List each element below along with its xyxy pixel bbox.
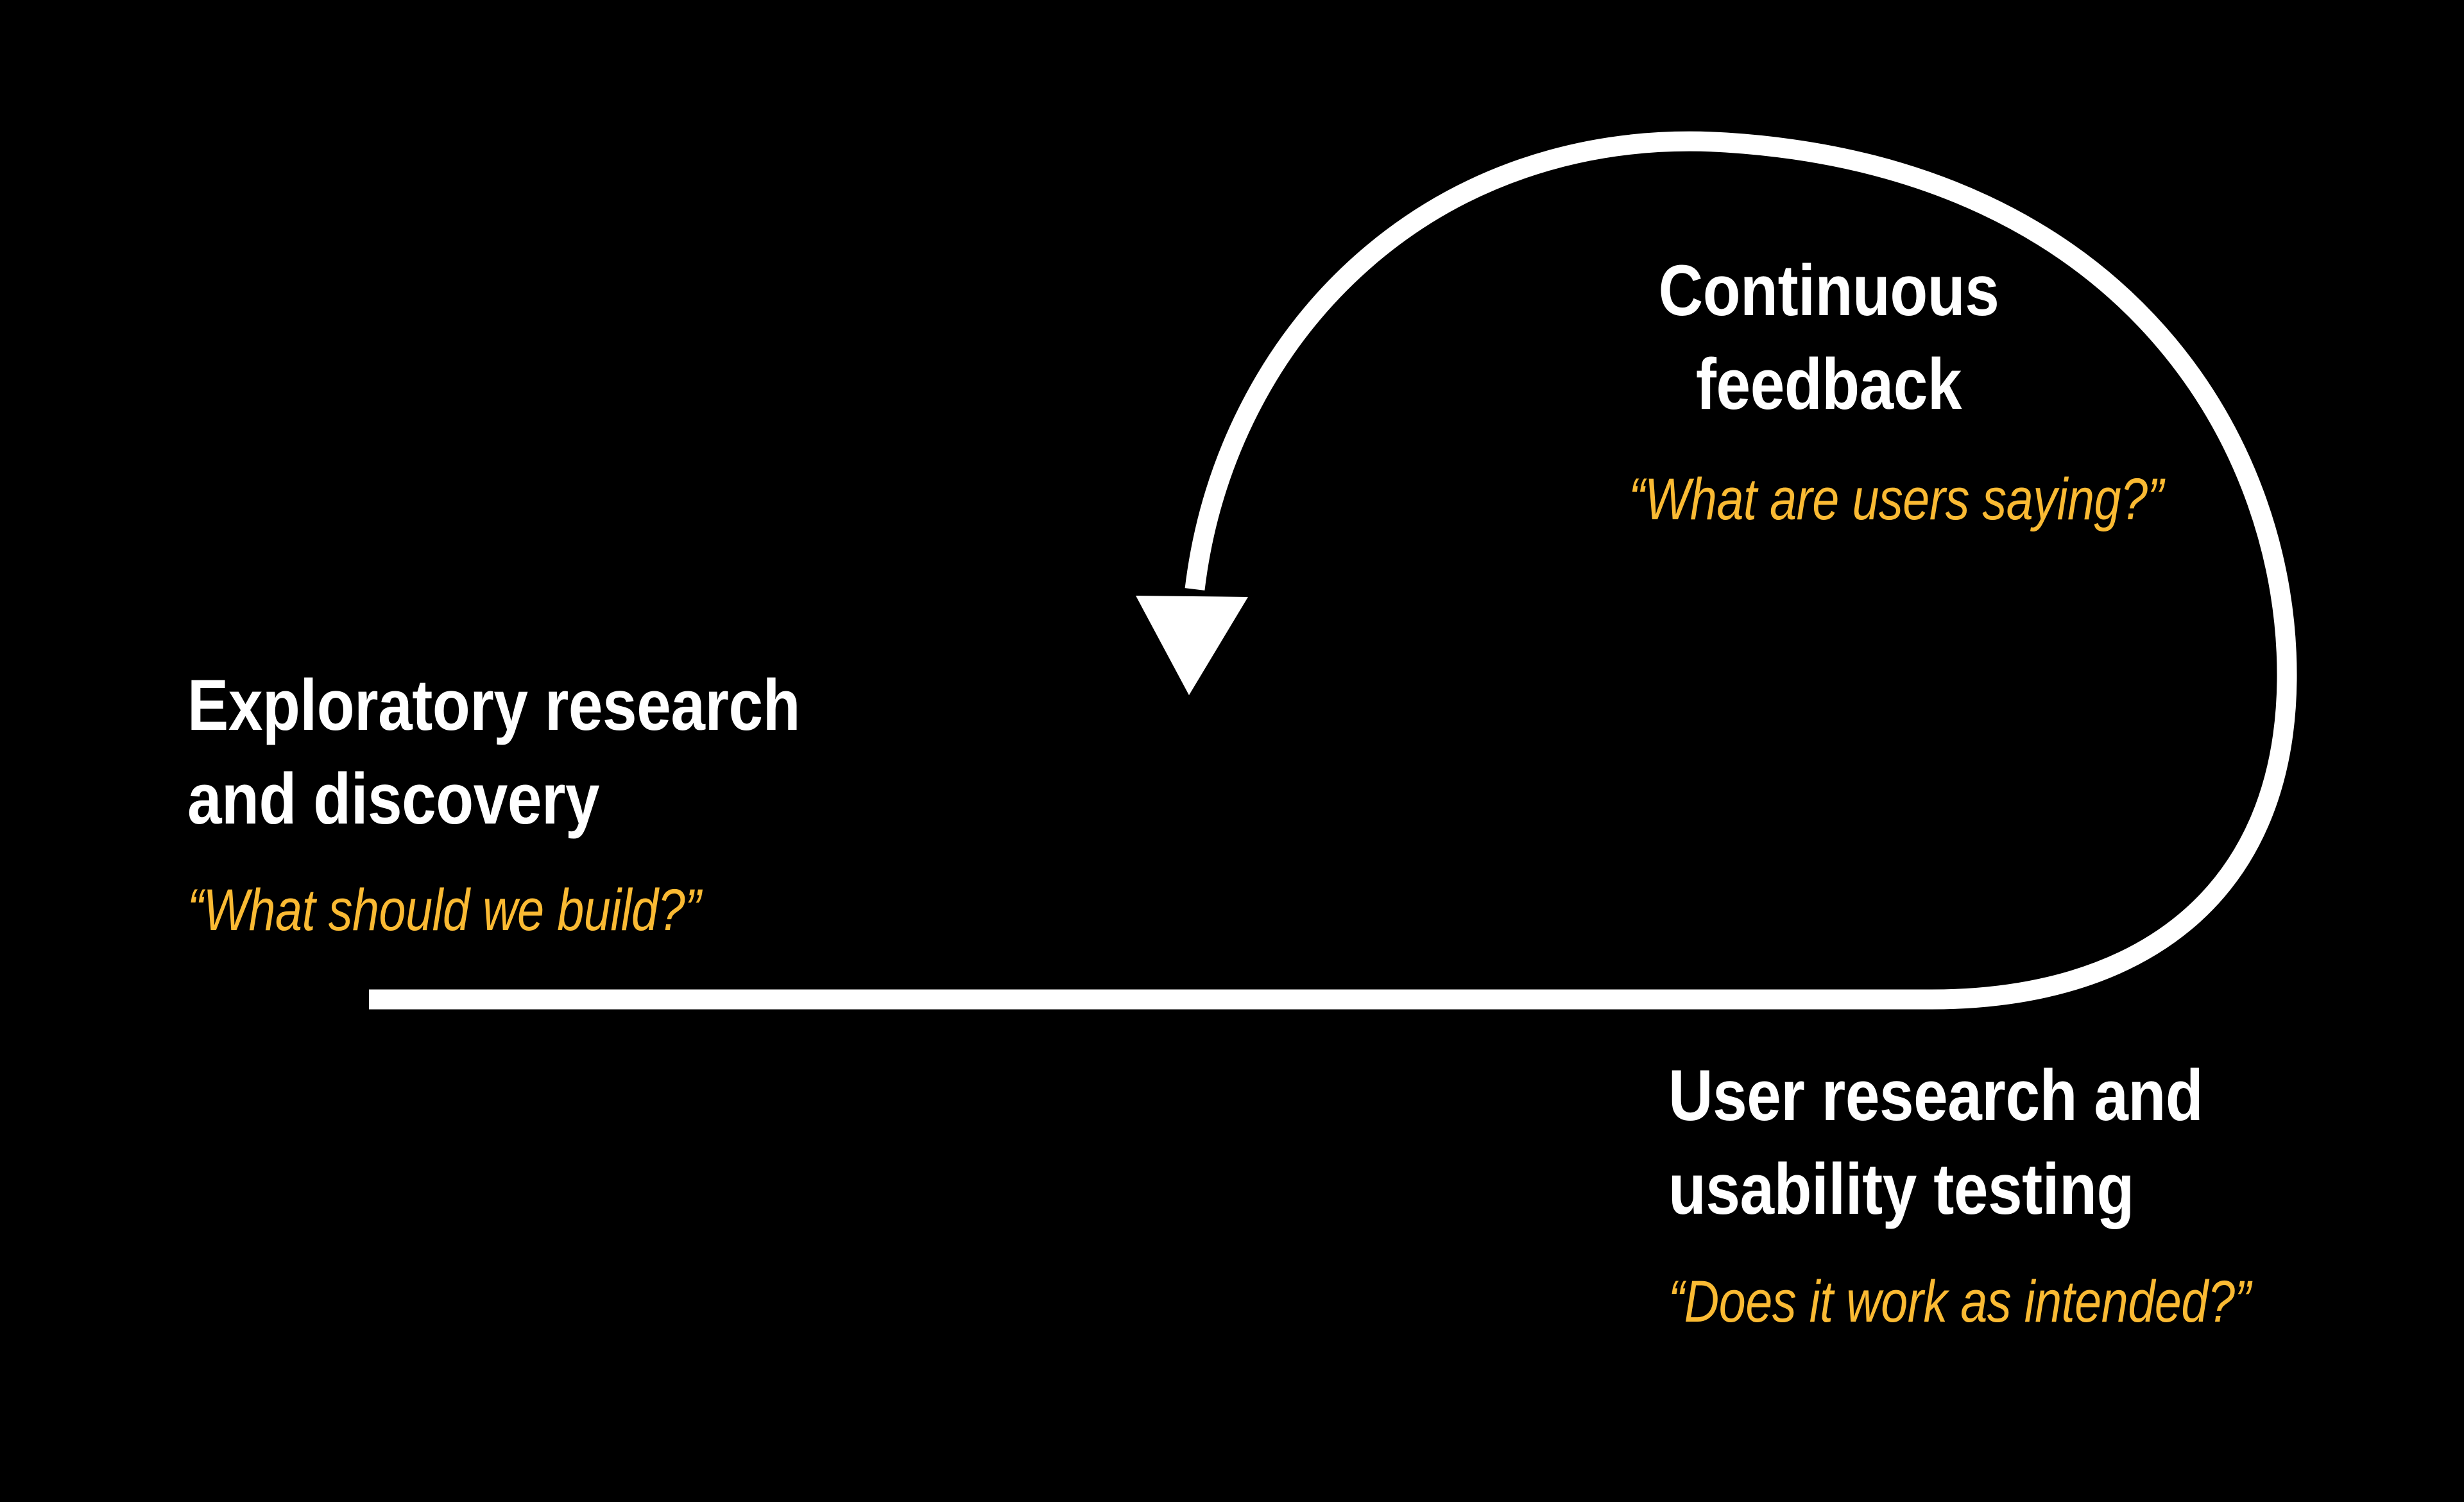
stage-heading-line-1: Exploratory research — [187, 659, 850, 752]
stage-quote: “Does it work as intended?” — [1668, 1266, 2300, 1337]
stage-heading-line-1: User research and — [1668, 1049, 2331, 1143]
stage-quote: “What should we build?” — [187, 875, 819, 945]
stage-heading-line-2: usability testing — [1668, 1143, 2331, 1236]
stage-heading-line-2: feedback — [1619, 338, 2039, 431]
diagram-canvas: Continuous feedback “What are users sayi… — [0, 0, 2464, 1502]
stage-heading-line-1: Continuous — [1619, 244, 2039, 338]
stage-exploratory-research: Exploratory research and discovery “What… — [187, 659, 957, 946]
stage-heading-line-2: and discovery — [187, 752, 850, 846]
stage-quote: “What are users saying?” — [1629, 464, 2028, 535]
stage-continuous-feedback: Continuous feedback “What are users sayi… — [1585, 244, 2073, 535]
arrowhead-icon — [1136, 596, 1248, 695]
stage-user-research-usability: User research and usability testing “Doe… — [1668, 1049, 2438, 1338]
